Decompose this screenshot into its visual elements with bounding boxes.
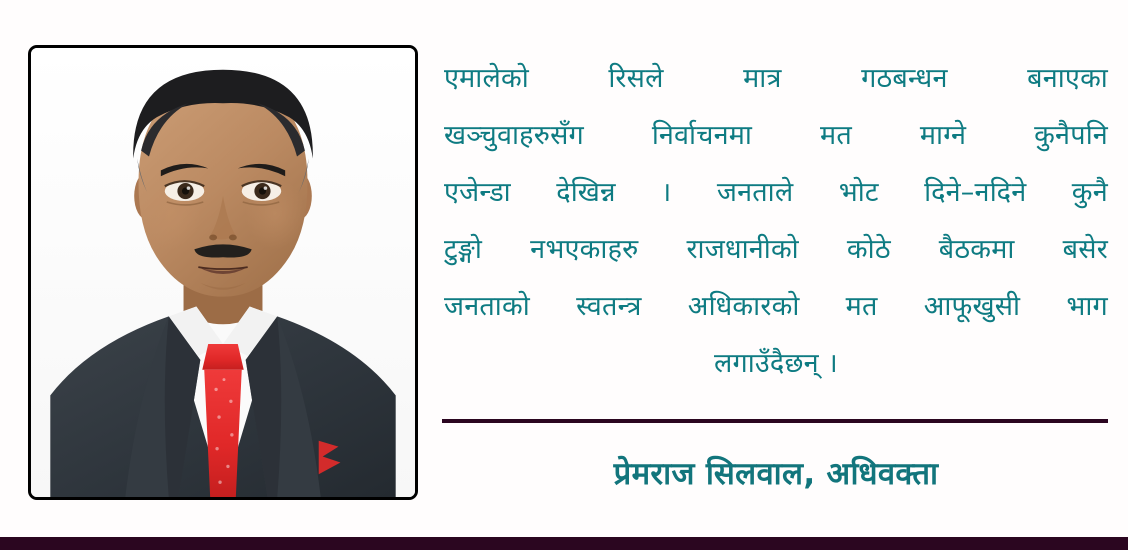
portrait-photo [31, 48, 415, 497]
quote-text-block: एमालेको रिसले मात्र गठबन्धन बनाएका खञ्चु… [440, 50, 1112, 405]
quote-line-5: जनताको स्वतन्त्र अधिकारको मत आफूखुसी भाग [440, 278, 1112, 335]
quote-line-2: खञ्चुवाहरुसँग निर्वाचनमा मत माग्ने कुनैप… [440, 107, 1112, 164]
quote-word: खञ्चुवाहरुसँग [444, 107, 584, 164]
attribution-label: प्रेमराज सिलवाल, अधिवक्ता [440, 452, 1112, 494]
quote-word: कुनैपनि [1034, 107, 1108, 164]
quote-line-1: एमालेको रिसले मात्र गठबन्धन बनाएका [440, 50, 1112, 107]
quote-word: टुङ्गो [444, 221, 482, 278]
quote-word: कोठे [847, 221, 891, 278]
quote-word: गठबन्धन [861, 50, 948, 107]
portrait-frame [28, 45, 418, 500]
bottom-accent-bar [0, 537, 1128, 550]
quote-word: निर्वाचनमा [652, 107, 752, 164]
quote-word: अधिकारको [688, 278, 800, 335]
quote-line-4: टुङ्गो नभएकाहरु राजधानीको कोठे बैठकमा बस… [440, 221, 1112, 278]
quote-word: मत [846, 278, 878, 335]
quote-word: बैठकमा [939, 221, 1015, 278]
quote-word: एजेन्डा [444, 164, 511, 221]
quote-word: बनाएका [1027, 50, 1108, 107]
quote-word: रिसले [608, 50, 663, 107]
quote-word: मात्र [743, 50, 781, 107]
quote-word: । [661, 164, 671, 221]
quote-word: कुनै [1072, 164, 1108, 221]
quote-word: आफूखुसी [924, 278, 1021, 335]
quote-word: राजधानीको [687, 221, 799, 278]
divider-rule [442, 419, 1108, 423]
quote-word: नभएकाहरु [530, 221, 638, 278]
quote-word: देखिन्न [556, 164, 615, 221]
quote-word: बसेर [1063, 221, 1108, 278]
quote-line-6: लगाउँदैछन् । [440, 335, 1112, 392]
quote-word: भाग [1066, 278, 1108, 335]
quote-word: स्वतन्त्र [576, 278, 642, 335]
quote-card: एमालेको रिसले मात्र गठबन्धन बनाएका खञ्चु… [0, 0, 1128, 550]
quote-word: मत [820, 107, 852, 164]
quote-line-3: एजेन्डा देखिन्न । जनताले भोट दिने–नदिने … [440, 164, 1112, 221]
quote-word: माग्ने [920, 107, 966, 164]
quote-word: जनताको [444, 278, 530, 335]
quote-word: दिने–नदिने [924, 164, 1026, 221]
quote-word: एमालेको [444, 50, 529, 107]
quote-word: जनताले [717, 164, 794, 221]
quote-word: भोट [839, 164, 879, 221]
